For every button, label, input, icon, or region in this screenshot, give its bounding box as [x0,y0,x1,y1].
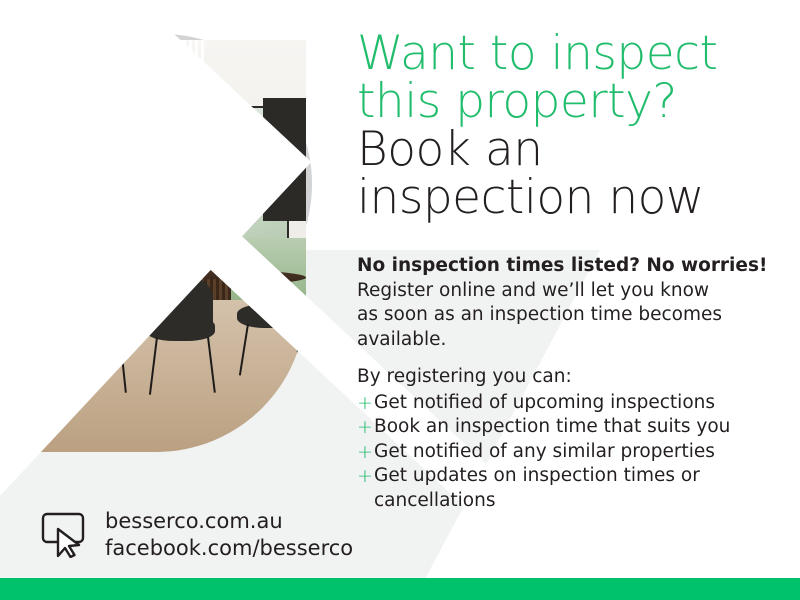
benefit-item: + Book an inspection time that suits you [357,415,787,440]
benefit-text: Get notified of any similar properties [374,440,787,465]
benefit-text-line-2: cancellations [374,490,495,511]
green-footer-bar [0,578,800,600]
benefit-text: Book an inspection time that suits you [374,415,787,440]
headline-line-2: this property? [357,78,787,126]
headline-line-3: Book an [357,126,787,174]
subhead-block: No inspection times listed? No worries! … [357,254,787,352]
plus-icon: + [357,464,368,489]
footer-contact: besserco.com.au facebook.com/besserco [41,508,353,562]
benefit-text: Get updates on inspection times or cance… [374,464,787,513]
website-url[interactable]: besserco.com.au [105,509,283,533]
cursor-click-icon [41,512,91,558]
benefit-item: + Get notified of upcoming inspections [357,391,787,416]
benefits-block: By registering you can: + Get notified o… [357,365,787,513]
text-column: Want to inspect this property? Book an i… [357,0,787,600]
plus-icon: + [357,415,368,440]
benefit-item: + Get notified of any similar properties [357,440,787,465]
contact-links: besserco.com.au facebook.com/besserco [105,508,353,562]
headline-line-1: Want to inspect [357,30,787,78]
subhead-body-line-3: available. [357,329,446,350]
subhead-bold-line: No inspection times listed? No worries! [357,254,787,279]
benefit-text: Get notified of upcoming inspections [374,391,787,416]
subhead-body-line-2: as soon as an inspection time becomes [357,304,722,325]
subhead-body-line-1: Register online and we’ll let you know [357,280,709,301]
benefit-item: + Get updates on inspection times or can… [357,464,787,513]
plus-icon: + [357,391,368,416]
headline-line-4: inspection now [357,174,787,222]
headline-block: Want to inspect this property? Book an i… [357,30,787,222]
benefits-intro: By registering you can: [357,365,787,390]
benefit-text-line-1: Get updates on inspection times or [374,465,700,486]
poster-canvas: Want to inspect this property? Book an i… [0,0,800,600]
plus-icon: + [357,440,368,465]
facebook-url[interactable]: facebook.com/besserco [105,536,353,560]
